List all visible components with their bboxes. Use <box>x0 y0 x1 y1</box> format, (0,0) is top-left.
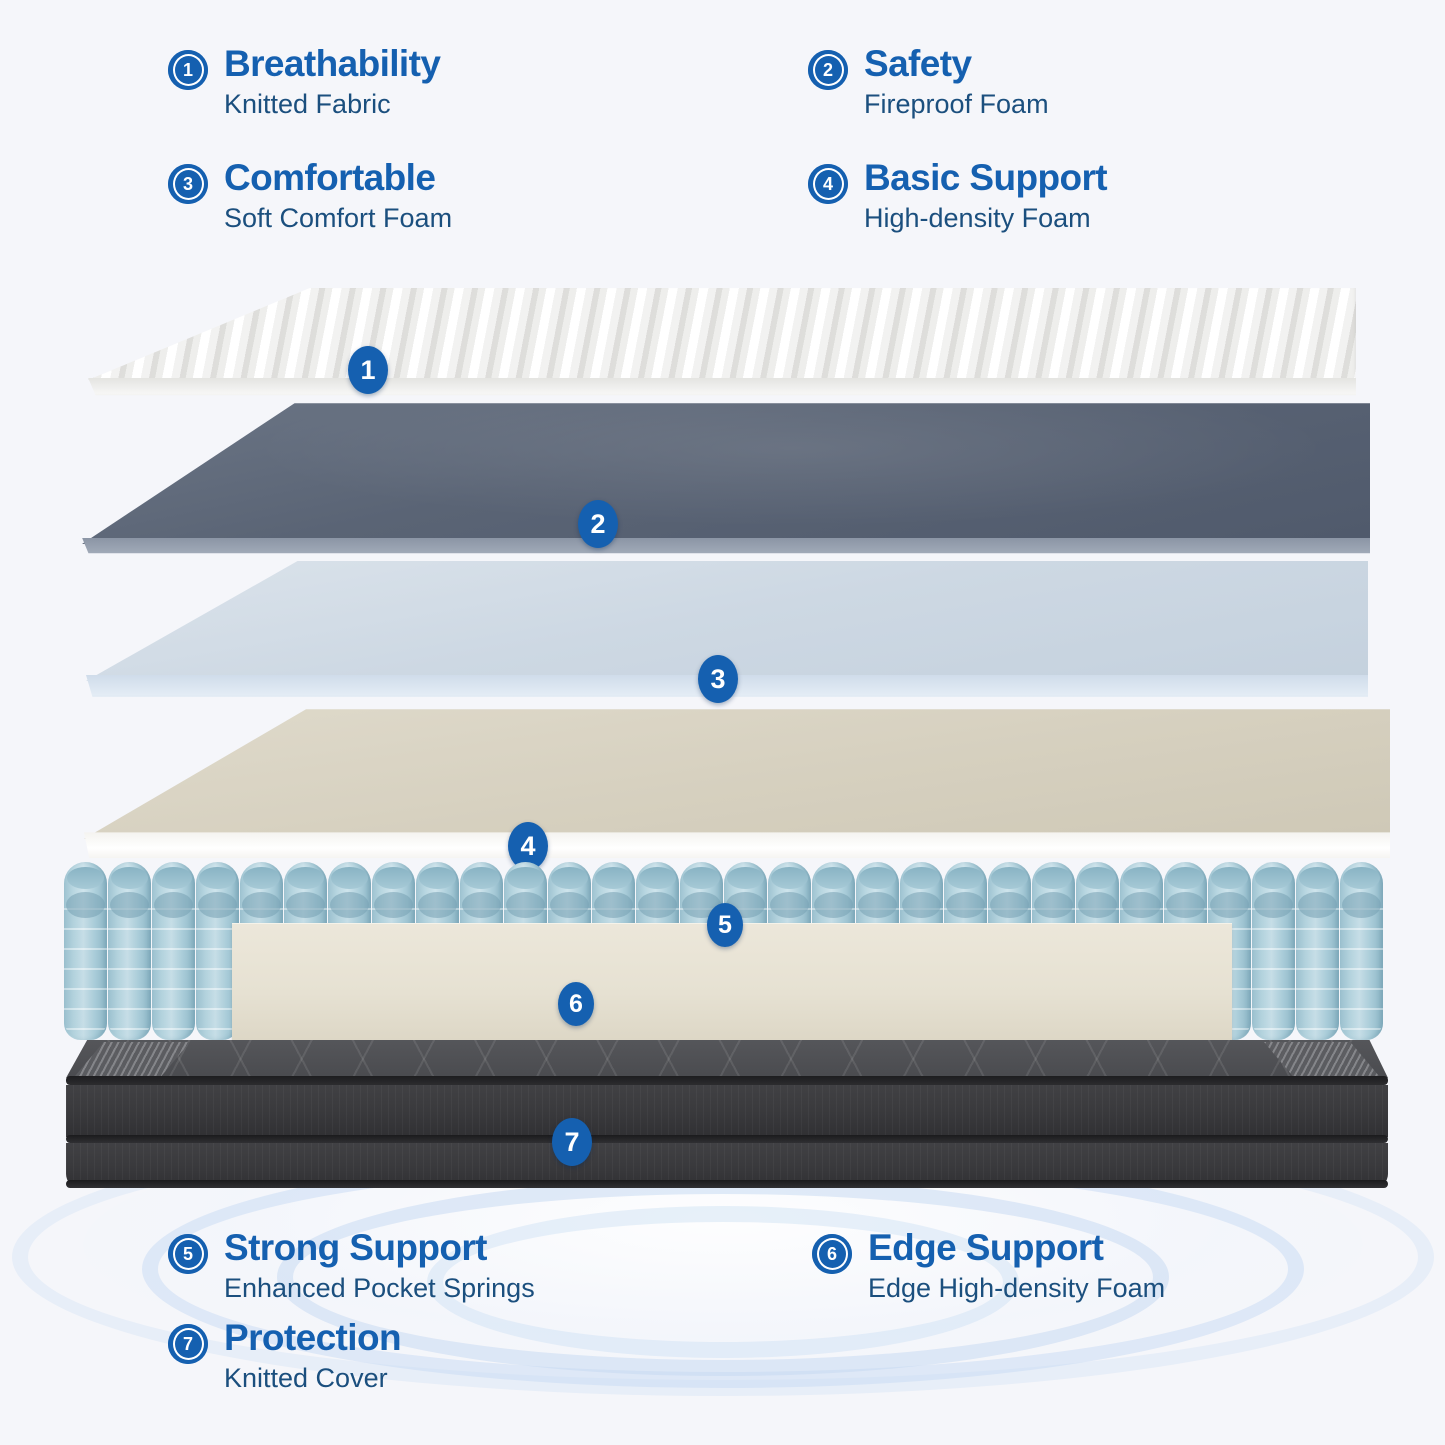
layer-knitted-fabric <box>88 288 1356 406</box>
callout-badge-6: 6 <box>558 982 594 1026</box>
feature-badge-7: 7 <box>168 1324 208 1364</box>
feature-badge-6: 6 <box>812 1234 852 1274</box>
feature-item-6: 6 Edge Support Edge High-density Foam <box>812 1228 1165 1306</box>
callout-badge-2: 2 <box>578 500 618 548</box>
feature-title-5: Strong Support <box>224 1228 535 1268</box>
feature-item-7: 7 Protection Knitted Cover <box>168 1318 401 1396</box>
layer2-sheen <box>82 400 1370 560</box>
spring-coil-lines <box>108 908 151 1040</box>
feature-item-4: 4 Basic Support High-density Foam <box>808 158 1107 236</box>
base-seam-middle <box>66 1135 1388 1143</box>
feature-subtitle-6: Edge High-density Foam <box>868 1272 1165 1306</box>
spring-coil-lines <box>64 908 107 1040</box>
feature-title-2: Safety <box>864 44 1049 84</box>
feature-title-4: Basic Support <box>864 158 1107 198</box>
callout-badge-5: 5 <box>707 903 743 947</box>
base-side-band-upper <box>66 1085 1388 1137</box>
feature-subtitle-5: Enhanced Pocket Springs <box>224 1272 535 1306</box>
layer-high-density-foam <box>84 706 1390 868</box>
feature-badge-3: 3 <box>168 164 208 204</box>
feature-title-6: Edge Support <box>868 1228 1165 1268</box>
base-hem <box>66 1076 1388 1085</box>
pocket-spring <box>64 862 107 1040</box>
feature-item-2: 2 Safety Fireproof Foam <box>808 44 1049 122</box>
pocket-spring <box>1296 862 1339 1040</box>
feature-subtitle-1: Knitted Fabric <box>224 88 440 122</box>
feature-badge-2: 2 <box>808 50 848 90</box>
feature-item-1: 1 Breathability Knitted Fabric <box>168 44 440 122</box>
layer2-front-edge <box>82 538 1370 560</box>
feature-title-7: Protection <box>224 1318 401 1358</box>
feature-badge-4: 4 <box>808 164 848 204</box>
pocket-spring <box>108 862 151 1040</box>
feature-title-3: Comfortable <box>224 158 452 198</box>
mattress-layer-diagram: 1 Breathability Knitted Fabric 2 Safety … <box>0 0 1445 1445</box>
callout-badge-1: 1 <box>348 346 388 394</box>
feature-subtitle-2: Fireproof Foam <box>864 88 1049 122</box>
feature-badge-5: 5 <box>168 1234 208 1274</box>
spring-coil-lines <box>1296 908 1339 1040</box>
pocket-spring <box>1252 862 1295 1040</box>
layer-fireproof-foam <box>82 400 1370 560</box>
feature-item-3: 3 Comfortable Soft Comfort Foam <box>168 158 452 236</box>
feature-subtitle-3: Soft Comfort Foam <box>224 202 452 236</box>
spring-coil-lines <box>152 908 195 1040</box>
spring-coil-lines <box>1340 908 1383 1040</box>
pocket-spring <box>1340 862 1383 1040</box>
base-quilted-top <box>66 1040 1388 1078</box>
feature-title-1: Breathability <box>224 44 440 84</box>
feature-subtitle-4: High-density Foam <box>864 202 1107 236</box>
base-seam-bottom <box>66 1180 1388 1188</box>
feature-subtitle-7: Knitted Cover <box>224 1362 401 1396</box>
pocket-spring <box>152 862 195 1040</box>
feature-badge-1: 1 <box>168 50 208 90</box>
callout-badge-3: 3 <box>698 655 738 703</box>
spring-coil-lines <box>1252 908 1295 1040</box>
feature-item-5: 5 Strong Support Enhanced Pocket Springs <box>168 1228 535 1306</box>
layer-knitted-cover-base <box>66 1040 1388 1188</box>
callout-badge-7: 7 <box>552 1118 592 1166</box>
